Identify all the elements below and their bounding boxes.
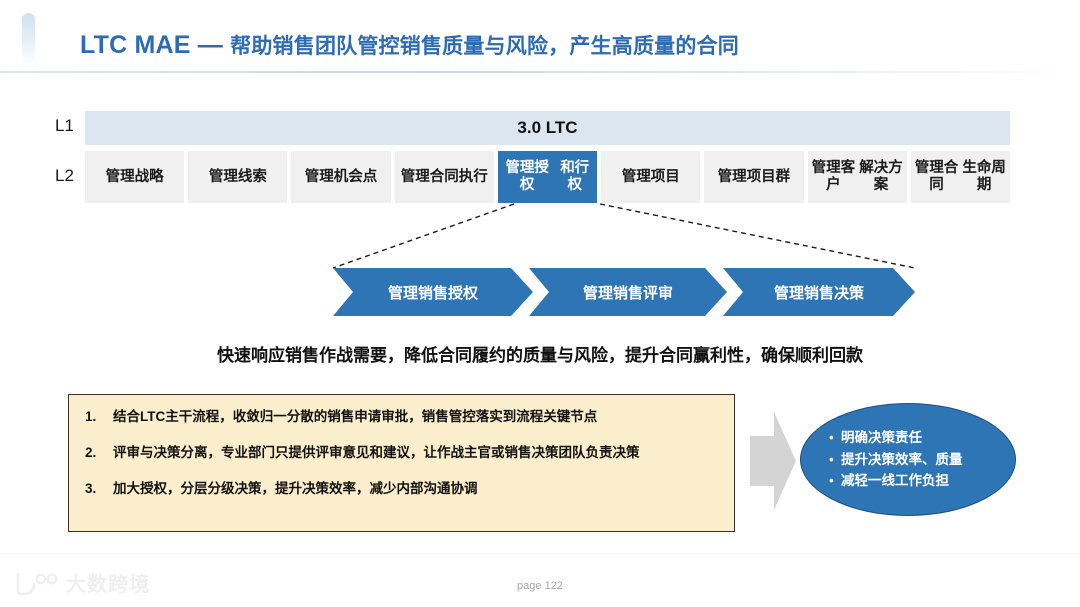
outcomes-oval: •明确决策责任•提升决策效率、质量•减轻一线工作负担 (800, 403, 1016, 516)
process-step-1[interactable]: 管理销售授权 (333, 268, 533, 316)
bullet-icon: • (829, 453, 841, 467)
l2-box-2[interactable]: 管理线索 (188, 151, 287, 203)
decorative-accent-bar (22, 13, 35, 65)
outcome-item: •减轻一线工作负担 (829, 474, 1015, 488)
level-1-title: 3.0 LTC (517, 118, 577, 138)
l2-box-label-line: 解决方案 (857, 160, 905, 193)
process-step-2[interactable]: 管理销售评审 (529, 268, 727, 316)
principle-text: 加大授权，分层分级决策，提升决策效率，减少内部沟通协调 (113, 481, 478, 497)
l2-box-label-line: 管理战略 (106, 169, 164, 186)
l2-box-8[interactable]: 管理客户解决方案 (808, 151, 907, 203)
bullet-icon: • (829, 474, 841, 488)
process-chevron-band: 管理销售授权 管理销售评审 管理销售决策 (333, 268, 915, 316)
slide-canvas: LTC MAE — 帮助销售团队管控销售质量与风险，产生高质量的合同 L1 3.… (0, 0, 1080, 607)
l2-box-label-line: 管理机会点 (305, 169, 378, 186)
outcome-text: 减轻一线工作负担 (841, 473, 949, 488)
principle-number: 3. (85, 481, 113, 497)
principle-item: 2.评审与决策分离，专业部门只提供评审意见和建议，让作战主官或销售决策团队负责决… (85, 445, 718, 461)
page-title-cn: 帮助销售团队管控销售质量与风险，产生高质量的合同 (230, 35, 739, 58)
l2-box-label-line: 管理项目 (622, 169, 680, 186)
watermark: 大数跨境 (14, 568, 150, 597)
outcome-text: 提升决策效率、质量 (841, 452, 963, 467)
l2-box-label-line: 和行权 (554, 160, 595, 193)
principle-number: 1. (85, 409, 113, 425)
outcome-item: •提升决策效率、质量 (829, 453, 1015, 467)
bullet-icon: • (829, 431, 841, 445)
level-1-bar: 3.0 LTC (85, 111, 1010, 145)
level-1-label: L1 (55, 116, 74, 136)
l2-box-label-line: 管理客户 (810, 160, 858, 193)
principle-item: 3.加大授权，分层分级决策，提升决策效率，减少内部沟通协调 (85, 481, 718, 497)
flow-arrow-icon (750, 410, 796, 512)
process-step-3[interactable]: 管理销售决策 (723, 268, 915, 316)
outcome-item: •明确决策责任 (829, 431, 1015, 445)
principle-text: 评审与决策分离，专业部门只提供评审意见和建议，让作战主官或销售决策团队负责决策 (113, 445, 640, 461)
l2-box-label-line: 管理项目群 (718, 169, 791, 186)
outcome-text: 明确决策责任 (841, 430, 922, 445)
l2-box-4[interactable]: 管理合同执行 (395, 151, 494, 203)
level-2-row: 管理战略管理线索管理机会点管理合同执行管理授权和行权管理项目管理项目群管理客户解… (85, 151, 1010, 203)
principles-box: 1.结合LTC主干流程，收敛归一分散的销售申请审批，销售管控落实到流程关键节点2… (68, 394, 735, 532)
principle-item: 1.结合LTC主干流程，收敛归一分散的销售申请审批，销售管控落实到流程关键节点 (85, 409, 718, 425)
page-title: LTC MAE — 帮助销售团队管控销售质量与风险，产生高质量的合同 (80, 30, 739, 60)
watermark-text: 大数跨境 (66, 568, 150, 597)
l2-box-7[interactable]: 管理项目群 (704, 151, 803, 203)
l2-box-9[interactable]: 管理合同生命周期 (911, 151, 1010, 203)
header-divider (0, 71, 1080, 73)
l2-box-1[interactable]: 管理战略 (85, 151, 184, 203)
principle-number: 2. (85, 445, 113, 461)
l2-box-label-line: 执行 (459, 169, 488, 186)
tagline: 快速响应销售作战需要，降低合同履约的质量与风险，提升合同赢利性，确保顺利回款 (0, 341, 1080, 366)
page-number: page 122 (0, 580, 1080, 592)
l2-box-label-line: 管理授权 (500, 160, 554, 193)
l2-box-6[interactable]: 管理项目 (601, 151, 700, 203)
l2-box-label-line: 管理合同 (913, 160, 961, 193)
l2-box-3[interactable]: 管理机会点 (291, 151, 390, 203)
l2-box-label-line: 管理线索 (209, 169, 267, 186)
watermark-logo-icon (14, 571, 60, 595)
level-2-label: L2 (55, 166, 74, 186)
l2-box-label-line: 生命周期 (960, 160, 1008, 193)
l2-box-5[interactable]: 管理授权和行权 (498, 151, 597, 203)
footer-divider (0, 553, 1080, 554)
l2-box-label-line: 管理合同 (401, 169, 459, 186)
principle-text: 结合LTC主干流程，收敛归一分散的销售申请审批，销售管控落实到流程关键节点 (113, 409, 597, 425)
page-title-en: LTC MAE — (80, 31, 223, 59)
